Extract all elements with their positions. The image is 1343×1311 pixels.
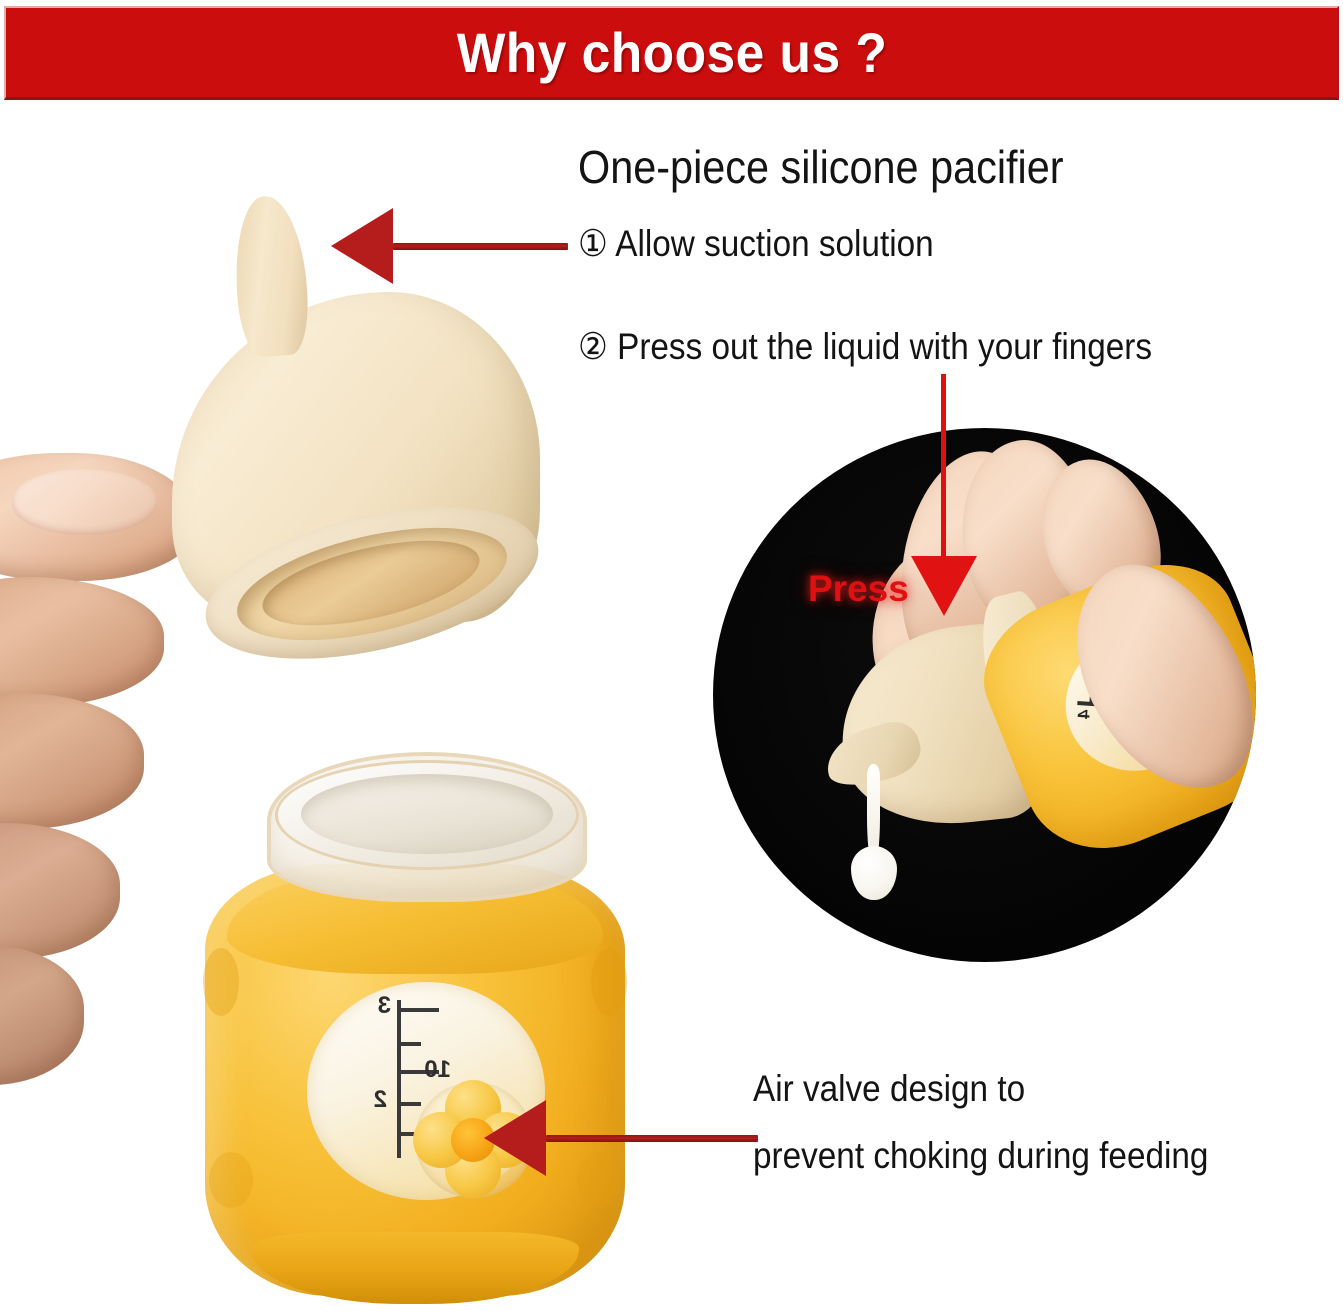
scale-label-2: 2 bbox=[374, 1086, 387, 1114]
bottle-notch-left bbox=[203, 948, 239, 1016]
pacifier-tip bbox=[231, 194, 312, 358]
pacifier-arrow-head-icon bbox=[331, 208, 393, 284]
pacifier-arrow-shaft bbox=[393, 243, 568, 250]
step-two-text: ② Press out the liquid with your fingers bbox=[578, 325, 1152, 368]
press-label: Press bbox=[808, 568, 909, 610]
valve-arrow-head-icon bbox=[484, 1100, 546, 1176]
bottle-notch-right bbox=[591, 948, 627, 1016]
bottle-glass-mouth bbox=[301, 774, 553, 854]
scale-label-3: 3 bbox=[378, 992, 391, 1020]
valve-arrow-shaft bbox=[546, 1135, 758, 1142]
valve-text-line-two: prevent choking during feeding bbox=[753, 1135, 1208, 1177]
middle-finger bbox=[0, 693, 144, 829]
press-arrow-head-icon bbox=[911, 556, 977, 616]
bottle-foot-left bbox=[209, 1152, 253, 1208]
section-heading: One-piece silicone pacifier bbox=[578, 140, 1064, 194]
milk-drop bbox=[851, 846, 897, 900]
inset-scale-label-4: 4 bbox=[1074, 709, 1095, 720]
press-demo-inset: 4 30 ml 12 Press bbox=[713, 428, 1256, 962]
bottle-base bbox=[251, 1232, 579, 1304]
step-one-text: ① Allow suction solution bbox=[578, 222, 934, 265]
header-banner: Why choose us ? bbox=[4, 6, 1339, 100]
scale-tick bbox=[397, 1008, 439, 1012]
press-arrow-shaft bbox=[941, 374, 946, 564]
little-finger bbox=[0, 945, 84, 1085]
valve-text-line-one: Air valve design to bbox=[753, 1068, 1025, 1110]
page-title: Why choose us ? bbox=[456, 20, 887, 85]
index-finger bbox=[0, 577, 164, 707]
bottle-foot-right bbox=[577, 1152, 621, 1208]
scale-tick bbox=[397, 1042, 421, 1046]
feeding-bottle: 3 10 2 5 bbox=[205, 752, 625, 1307]
thumbnail bbox=[12, 469, 158, 535]
ring-finger bbox=[0, 823, 120, 959]
